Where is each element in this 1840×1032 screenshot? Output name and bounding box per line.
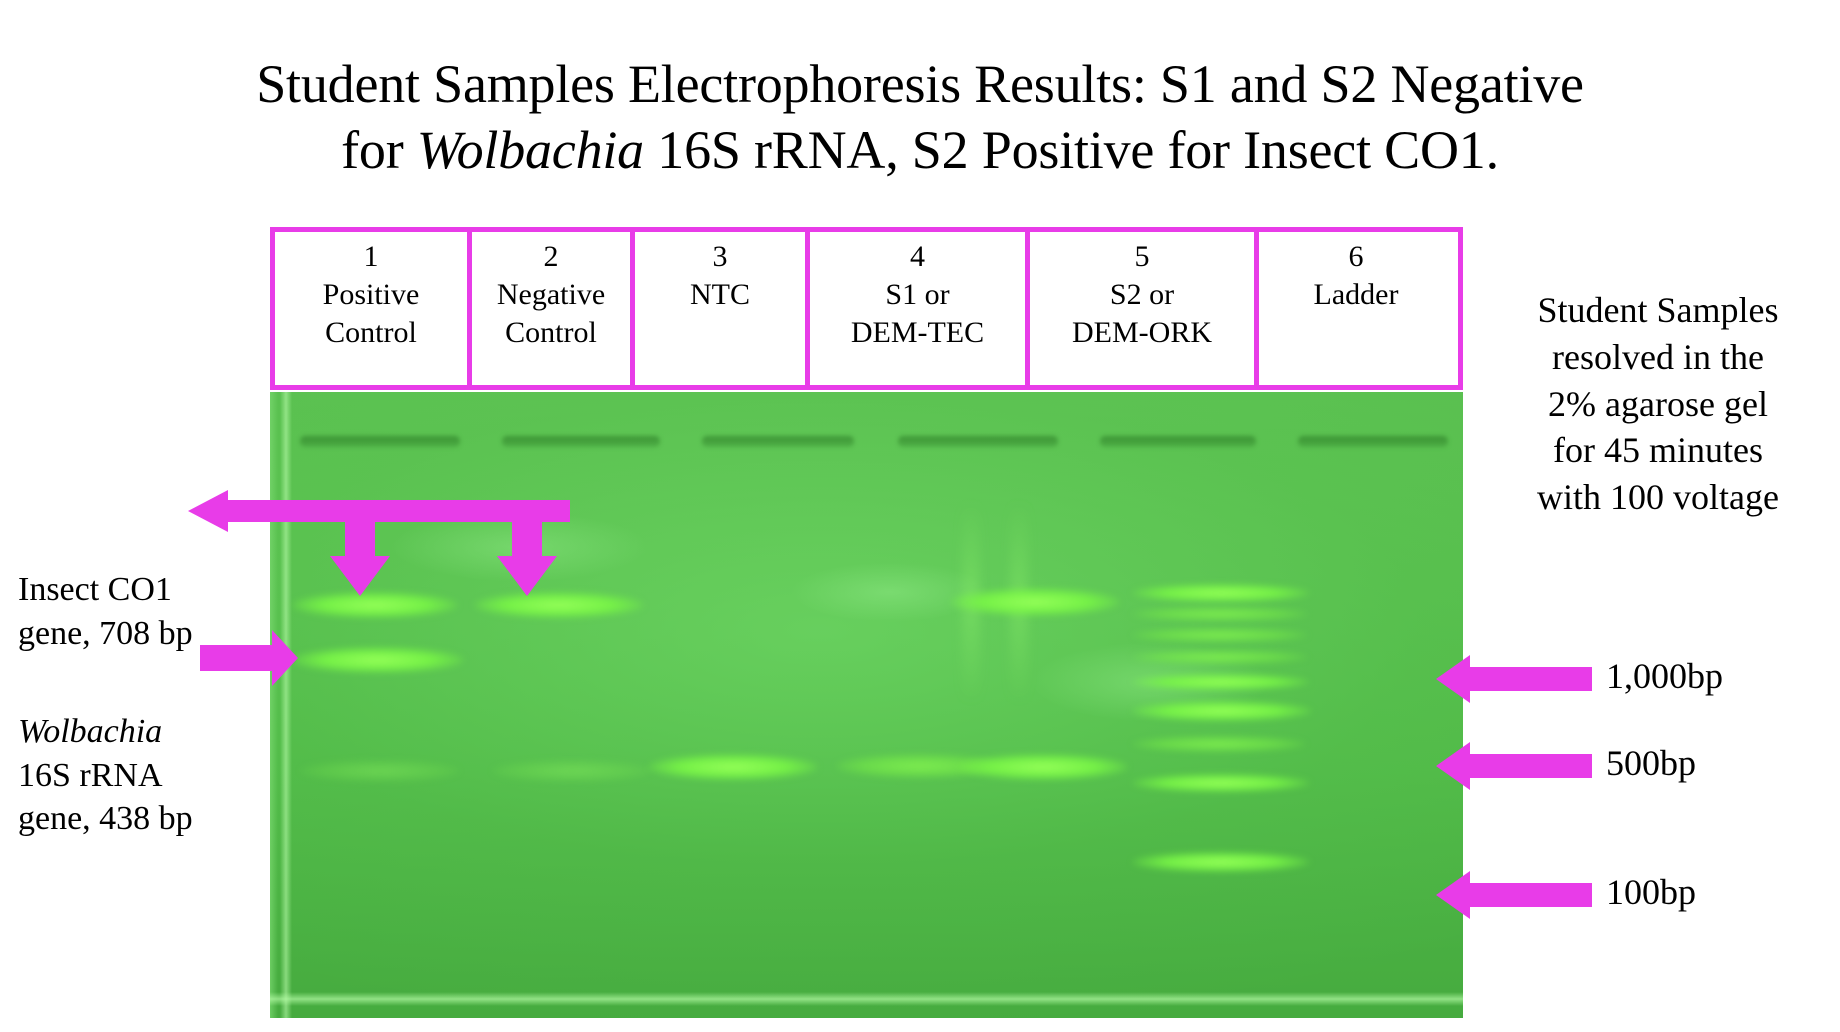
annotation-line: gene, 708 bp bbox=[18, 612, 193, 656]
ladder-label-500bp: 500bp bbox=[1606, 745, 1696, 781]
lane-description-line1: Negative bbox=[497, 276, 605, 314]
band-lane3-primer-dimer bbox=[648, 754, 818, 780]
page-title: Student Samples Electrophoresis Results:… bbox=[0, 52, 1840, 184]
lane-description-line2: DEM-TEC bbox=[851, 314, 984, 352]
title-line-2: for Wolbachia 16S rRNA, S2 Positive for … bbox=[0, 118, 1840, 184]
ladder-band bbox=[1132, 628, 1308, 642]
annotation-line: Insect CO1 bbox=[18, 568, 193, 612]
ladder-band bbox=[1132, 774, 1310, 792]
caption-line: for 45 minutes bbox=[1478, 427, 1838, 474]
caption-line: with 100 voltage bbox=[1478, 474, 1838, 521]
title-line-1: Student Samples Electrophoresis Results:… bbox=[0, 52, 1840, 118]
caption-line: 2% agarose gel bbox=[1478, 381, 1838, 428]
title-prefix: for bbox=[341, 120, 417, 180]
annotation-species-name: Wolbachia bbox=[18, 710, 193, 754]
lane-number: 4 bbox=[910, 238, 925, 276]
lane-number: 5 bbox=[1135, 238, 1150, 276]
ladder-band-100bp bbox=[1132, 852, 1310, 872]
ladder-band bbox=[1132, 674, 1310, 690]
lane-number: 1 bbox=[364, 238, 379, 276]
lane-description-line2: DEM-ORK bbox=[1072, 314, 1212, 352]
lane-description-line1: Ladder bbox=[1314, 276, 1399, 314]
ladder-label-1000bp: 1,000bp bbox=[1606, 658, 1723, 694]
annotation-line: gene, 438 bp bbox=[18, 797, 193, 841]
gel-well-5 bbox=[1100, 436, 1256, 447]
band-lane1-wolbachia bbox=[292, 647, 464, 673]
lane-number: 3 bbox=[713, 238, 728, 276]
lane-description-line2: Control bbox=[505, 314, 597, 352]
lane-header-3: 3 NTC bbox=[635, 232, 810, 385]
ladder-band bbox=[1132, 736, 1306, 752]
ladder-band bbox=[1132, 650, 1308, 664]
ladder-band-500bp bbox=[1132, 701, 1312, 721]
caption-line: resolved in the bbox=[1478, 334, 1838, 381]
gel-bottom-edge-highlight bbox=[270, 992, 1463, 1006]
agarose-gel-image bbox=[270, 392, 1463, 1018]
ladder-band bbox=[1132, 607, 1308, 621]
band-lane1-co1 bbox=[292, 592, 458, 618]
lane-header-2: 2 Negative Control bbox=[472, 232, 635, 385]
gel-well-3 bbox=[702, 436, 854, 447]
gel-well-4 bbox=[898, 436, 1058, 447]
annotation-wolbachia: Wolbachia 16S rRNA gene, 438 bp bbox=[18, 710, 193, 841]
title-species-name: Wolbachia bbox=[417, 120, 644, 180]
band-lane2-co1 bbox=[474, 592, 644, 618]
lane-header-4: 4 S1 or DEM-TEC bbox=[810, 232, 1030, 385]
gel-well-1 bbox=[300, 436, 460, 447]
lane-header-table: 1 Positive Control 2 Negative Control 3 … bbox=[270, 227, 1463, 390]
band-lane5-primer-dimer bbox=[958, 754, 1128, 780]
gel-artifact bbox=[790, 562, 990, 622]
lane-description-line1: S2 or bbox=[1110, 276, 1174, 314]
gel-well-6 bbox=[1298, 436, 1448, 447]
lane-description-line2: Control bbox=[325, 314, 417, 352]
title-suffix: 16S rRNA, S2 Positive for Insect CO1. bbox=[644, 120, 1499, 180]
gel-left-edge-shadow bbox=[270, 392, 278, 1018]
gel-left-edge-highlight bbox=[280, 392, 292, 1018]
gel-well-2 bbox=[502, 436, 660, 447]
lane-description-line1: NTC bbox=[690, 276, 750, 314]
ladder-band-1000bp bbox=[1132, 584, 1310, 602]
lane-description-line1: S1 or bbox=[885, 276, 949, 314]
ladder-label-100bp: 100bp bbox=[1606, 874, 1696, 910]
lane-number: 6 bbox=[1349, 238, 1364, 276]
gel-artifact bbox=[390, 512, 650, 582]
lane-description-line1: Positive bbox=[323, 276, 420, 314]
lane-header-6: 6 Ladder bbox=[1259, 232, 1453, 385]
methods-caption: Student Samples resolved in the 2% agaro… bbox=[1478, 287, 1838, 521]
caption-line: Student Samples bbox=[1478, 287, 1838, 334]
annotation-insect-co1: Insect CO1 gene, 708 bp bbox=[18, 568, 193, 655]
band-lane1-primer-dimer bbox=[300, 760, 460, 782]
lane-number: 2 bbox=[544, 238, 559, 276]
lane-header-1: 1 Positive Control bbox=[275, 232, 472, 385]
lane-header-5: 5 S2 or DEM-ORK bbox=[1030, 232, 1259, 385]
band-lane5-co1 bbox=[950, 588, 1120, 616]
annotation-line: 16S rRNA bbox=[18, 754, 193, 798]
band-lane2-primer-dimer bbox=[492, 760, 652, 782]
